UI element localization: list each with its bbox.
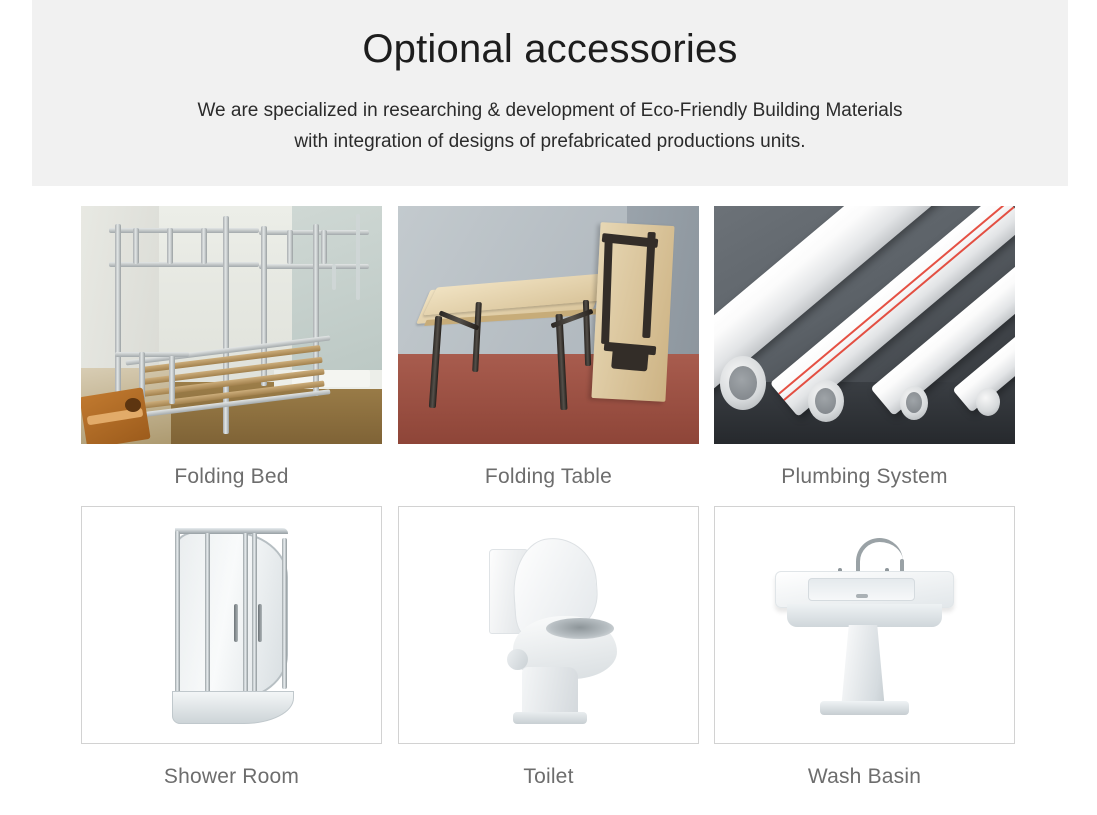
- product-caption-wash-basin: Wash Basin: [714, 765, 1015, 789]
- shower-post-right: [282, 538, 287, 689]
- basin-apron: [787, 604, 942, 628]
- basin-pedestal-column: [838, 625, 889, 703]
- shower-post-left: [175, 531, 180, 701]
- bed-upper-rail-2: [109, 262, 259, 267]
- bed-photo-scene: [81, 206, 382, 444]
- bed-upper-rail-1: [109, 228, 259, 233]
- bed-rail-spindle-2: [167, 228, 173, 264]
- shower-post-mid-left: [205, 533, 210, 698]
- toilet-rim-opening: [546, 618, 615, 639]
- product-card-folding-table[interactable]: Folding Table: [398, 206, 699, 489]
- product-grid: Folding Bed: [0, 206, 1097, 806]
- shower-handle-right[interactable]: [258, 604, 262, 642]
- product-image-folding-bed[interactable]: [81, 206, 382, 444]
- product-caption-toilet: Toilet: [398, 765, 699, 789]
- basin-photo-scene: [715, 507, 1014, 743]
- bed-rail-spindle-1: [133, 228, 139, 264]
- toilet-base-foot: [513, 712, 588, 724]
- product-card-toilet[interactable]: Toilet: [398, 506, 699, 789]
- basin-faucet-gooseneck: [856, 538, 904, 576]
- product-caption-folding-bed: Folding Bed: [81, 465, 382, 489]
- bed-side-guard-top: [115, 352, 189, 357]
- ppr-pipe-medium-bore: [815, 388, 836, 414]
- page-subtitle: We are specialized in researching & deve…: [32, 96, 1068, 158]
- product-image-shower-room[interactable]: [81, 506, 382, 744]
- table-folded-hinge: [611, 346, 649, 371]
- product-image-toilet[interactable]: [398, 506, 699, 744]
- product-caption-folding-table: Folding Table: [398, 465, 699, 489]
- ppr-pipe-small-bore: [906, 392, 922, 413]
- product-image-folding-table[interactable]: [398, 206, 699, 444]
- bed-rail-spindle-5: [321, 230, 327, 264]
- bed-post-left: [115, 224, 121, 412]
- shower-door-edge-right: [252, 533, 257, 696]
- bed-post-right-mid: [261, 226, 267, 386]
- product-image-plumbing-system[interactable]: [714, 206, 1015, 444]
- product-card-shower-room[interactable]: Shower Room: [81, 506, 382, 789]
- shower-photo-scene: [82, 507, 381, 743]
- ppr-pipe-extra-end: [976, 388, 1000, 416]
- product-card-wash-basin[interactable]: Wash Basin: [714, 506, 1015, 789]
- product-row-2: Shower Room Toilet: [0, 506, 1097, 806]
- shower-enclosure-glass: [175, 531, 289, 701]
- table-photo-scene: [398, 206, 699, 444]
- bed-side-guard-post-2: [169, 356, 175, 404]
- shower-top-rail: [175, 528, 289, 534]
- bed-rail-spindle-3: [201, 228, 207, 264]
- page-title: Optional accessories: [32, 26, 1068, 72]
- toilet-photo-scene: [399, 507, 698, 743]
- header-band: Optional accessories We are specialized …: [32, 0, 1068, 186]
- bed-rail-spindle-4: [287, 230, 293, 264]
- shower-base-tray: [172, 691, 295, 724]
- bed-shower-hose: [356, 214, 360, 300]
- subtitle-line-1: We are specialized in researching & deve…: [32, 96, 1068, 127]
- product-card-folding-bed[interactable]: Folding Bed: [81, 206, 382, 489]
- shower-door-edge-left: [243, 533, 248, 696]
- pipes-photo-scene: [714, 206, 1015, 444]
- bed-shower-head: [332, 264, 336, 290]
- ppr-pipe-large-bore: [729, 366, 757, 400]
- product-row-1: Folding Bed: [0, 206, 1097, 506]
- basin-drain: [856, 594, 868, 598]
- product-caption-shower-room: Shower Room: [81, 765, 382, 789]
- basin-pedestal-foot: [820, 701, 910, 715]
- shower-handle-left[interactable]: [234, 604, 238, 642]
- product-image-wash-basin[interactable]: [714, 506, 1015, 744]
- bed-chair-hole: [125, 398, 141, 412]
- subtitle-line-2: with integration of designs of prefabric…: [32, 127, 1068, 158]
- product-caption-plumbing-system: Plumbing System: [714, 465, 1015, 489]
- product-card-plumbing-system[interactable]: Plumbing System: [714, 206, 1015, 489]
